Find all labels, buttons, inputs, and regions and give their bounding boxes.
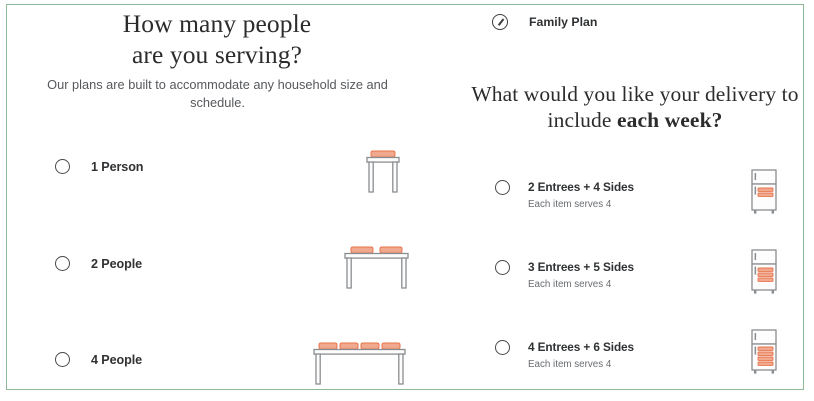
delivery-contents-panel: Family Plan What would you like your del… — [417, 5, 804, 389]
page-title: How many people are you serving? — [37, 8, 397, 70]
radio-button-4-people[interactable] — [55, 352, 70, 367]
radio-button-2-people[interactable] — [55, 256, 70, 271]
meal-plan-selector-frame: How many people are you serving? Our pla… — [6, 4, 804, 390]
page-title-line-2: are you serving? — [37, 39, 397, 70]
household-size-label: 4 People — [91, 353, 142, 367]
delivery-option-3-entrees-5-sides[interactable]: 3 Entrees + 5 Sides Each item serves 4 — [495, 258, 634, 290]
fridge-2-shelves-icon — [747, 168, 781, 221]
page-title-line-1: How many people — [37, 8, 397, 39]
delivery-option-texts: 3 Entrees + 5 Sides Each item serves 4 — [528, 258, 634, 290]
delivery-option-title: 4 Entrees + 6 Sides — [528, 340, 634, 354]
selected-plan-label: Family Plan — [529, 15, 597, 29]
household-size-label: 1 Person — [91, 160, 143, 174]
table-2-seats-icon — [337, 241, 417, 298]
delivery-option-subtitle: Each item serves 4 — [528, 279, 634, 290]
household-size-option-2-people[interactable]: 2 People — [55, 256, 142, 271]
delivery-question-title-emphasis: each week? — [617, 108, 723, 132]
delivery-option-texts: 2 Entrees + 4 Sides Each item serves 4 — [528, 178, 634, 210]
household-size-label: 2 People — [91, 257, 142, 271]
edit-pencil-icon[interactable] — [492, 14, 508, 30]
household-size-option-4-people[interactable]: 4 People — [55, 352, 142, 367]
selected-plan-chip[interactable]: Family Plan — [492, 14, 597, 30]
fridge-3-shelves-icon — [747, 248, 781, 301]
page-subtitle: Our plans are built to accommodate any h… — [45, 76, 390, 112]
delivery-option-subtitle: Each item serves 4 — [528, 359, 634, 370]
fridge-4-shelves-icon — [747, 328, 781, 381]
delivery-option-subtitle: Each item serves 4 — [528, 199, 634, 210]
radio-button-3-entrees-5-sides[interactable] — [495, 260, 510, 275]
radio-button-1-person[interactable] — [55, 159, 70, 174]
household-size-option-1-person[interactable]: 1 Person — [55, 159, 143, 174]
radio-button-4-entrees-6-sides[interactable] — [495, 340, 510, 355]
delivery-option-2-entrees-4-sides[interactable]: 2 Entrees + 4 Sides Each item serves 4 — [495, 178, 634, 210]
table-1-seat-icon — [352, 145, 414, 202]
delivery-option-title: 3 Entrees + 5 Sides — [528, 260, 634, 274]
table-4-seats-icon — [307, 337, 411, 390]
delivery-option-4-entrees-6-sides[interactable]: 4 Entrees + 6 Sides Each item serves 4 — [495, 338, 634, 370]
delivery-question-title: What would you like your delivery to inc… — [467, 81, 803, 133]
delivery-option-texts: 4 Entrees + 6 Sides Each item serves 4 — [528, 338, 634, 370]
delivery-option-title: 2 Entrees + 4 Sides — [528, 180, 634, 194]
household-size-panel: How many people are you serving? Our pla… — [7, 5, 417, 389]
radio-button-2-entrees-4-sides[interactable] — [495, 180, 510, 195]
